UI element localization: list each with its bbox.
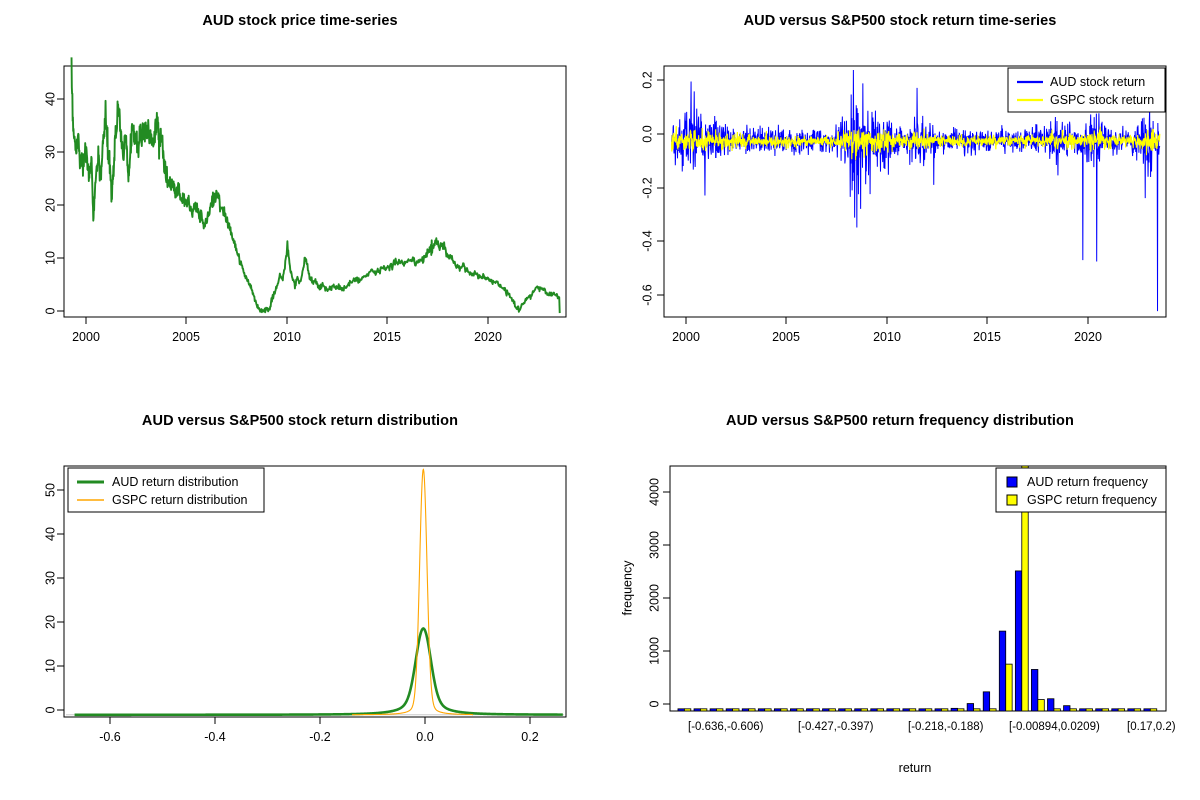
histogram-bar-gspc — [990, 709, 996, 711]
y-tick-label: 20 — [43, 198, 57, 212]
histogram-bar-gspc — [1150, 709, 1156, 711]
histogram-bar-gspc — [765, 709, 771, 711]
plot-aud-gspc-return: -0.6 -0.4 -0.2 0.0 0.2 2000 2005 2010 20… — [600, 0, 1200, 400]
x-axis-title: return — [899, 761, 932, 775]
legend-aud-gspc-histogram[interactable]: AUD return frequency GSPC return frequen… — [996, 468, 1166, 512]
histogram-bar-aud — [694, 709, 700, 711]
x-tick-label: 2010 — [273, 330, 301, 344]
series-aud-price — [72, 57, 560, 313]
histogram-bar-aud — [839, 709, 845, 711]
legend-label-gspc: GSPC return frequency — [1027, 493, 1158, 507]
axes-aud-price: 0 10 20 30 40 2000 2005 2010 2015 2020 — [43, 66, 566, 344]
y-axis-ticks — [57, 490, 64, 710]
x-axis-ticks — [110, 717, 530, 724]
histogram-bar-gspc — [700, 709, 706, 711]
legend-swatch-gspc — [1007, 495, 1017, 505]
histogram-bar-gspc — [941, 709, 947, 711]
y-tick-label: 50 — [43, 483, 57, 497]
x-tick-label: -0.6 — [99, 730, 121, 744]
histogram-bar-gspc — [1054, 709, 1060, 711]
histogram-bar-gspc — [1118, 709, 1124, 711]
x-bin-label: [-0.427,-0.397) — [798, 721, 874, 733]
histogram-bar-gspc — [893, 709, 899, 711]
x-tick-label: -0.2 — [309, 730, 331, 744]
x-tick-label: 2015 — [373, 330, 401, 344]
x-tick-label: 2000 — [672, 330, 700, 344]
y-tick-label: 0 — [647, 700, 661, 707]
y-tick-label: 2000 — [647, 584, 661, 612]
histogram-bar-gspc — [829, 709, 835, 711]
y-axis-title: frequency — [620, 560, 634, 616]
histogram-bar-aud — [903, 709, 909, 711]
plot-aud-gspc-density: 0 10 20 30 40 50 -0.6 -0.4 -0.2 0.0 0.2 — [0, 400, 600, 800]
histogram-bar-aud — [1096, 709, 1102, 711]
y-tick-label: 10 — [43, 659, 57, 673]
histogram-bar-aud — [726, 709, 732, 711]
panel-aud-gspc-histogram: AUD versus S&P500 return frequency distr… — [600, 400, 1200, 800]
y-axis-ticks — [57, 99, 64, 311]
histogram-bar-gspc — [813, 709, 819, 711]
y-tick-label: 0.0 — [640, 125, 654, 142]
histogram-bar-aud — [678, 709, 684, 711]
y-tick-label: 1000 — [647, 637, 661, 665]
histogram-bar-aud — [1080, 709, 1086, 711]
histogram-bar-gspc — [749, 709, 755, 711]
histogram-bar-aud — [823, 709, 829, 711]
histogram-bar-aud — [774, 709, 780, 711]
histogram-bar-aud — [1128, 709, 1134, 711]
x-bin-label: [0.17,0.2) — [1127, 721, 1176, 733]
y-tick-label: 0 — [43, 706, 57, 713]
y-tick-label: 3000 — [647, 531, 661, 559]
histogram-bar-aud — [1144, 709, 1150, 711]
histogram-bar-gspc — [733, 709, 739, 711]
histogram-bar-gspc — [861, 709, 867, 711]
legend-aud-gspc-density[interactable]: AUD return distribution GSPC return dist… — [68, 468, 264, 512]
y-tick-label: -0.4 — [640, 230, 654, 252]
histogram-bar-gspc — [1070, 709, 1076, 711]
histogram-bar-aud — [1112, 709, 1118, 711]
legend-label-gspc: GSPC stock return — [1050, 93, 1154, 107]
histogram-bar-gspc — [925, 709, 931, 711]
histogram-bar-gspc — [958, 709, 964, 711]
histogram-bar-aud — [887, 709, 893, 711]
histogram-bar-gspc — [1038, 700, 1044, 711]
x-tick-label: 2000 — [72, 330, 100, 344]
histogram-bar-aud — [871, 709, 877, 711]
histogram-bar-aud — [855, 709, 861, 711]
histogram-bar-aud — [758, 709, 764, 711]
histogram-bar-aud — [742, 709, 748, 711]
histogram-bar-aud — [1048, 699, 1054, 711]
x-tick-label: 0.2 — [521, 730, 538, 744]
panel-aud-gspc-density: AUD versus S&P500 stock return distribut… — [0, 400, 600, 800]
y-tick-label: 30 — [43, 145, 57, 159]
y-tick-label: -0.2 — [640, 177, 654, 199]
histogram-bar-aud — [983, 692, 989, 711]
legend-label-gspc: GSPC return distribution — [112, 493, 248, 507]
histogram-bar-gspc — [1134, 709, 1140, 711]
histogram-bar-aud — [919, 709, 925, 711]
y-tick-label: 10 — [43, 251, 57, 265]
legend-label-aud: AUD stock return — [1050, 75, 1145, 89]
y-tick-label: 30 — [43, 571, 57, 585]
histogram-bar-aud — [1031, 669, 1037, 711]
histogram-bar-aud — [807, 709, 813, 711]
histogram-bar-aud — [935, 709, 941, 711]
histogram-bar-aud — [710, 709, 716, 711]
histogram-bar-aud — [1015, 571, 1021, 711]
x-tick-label: 2005 — [772, 330, 800, 344]
histogram-bar-gspc — [781, 709, 787, 711]
panel-aud-gspc-return: AUD versus S&P500 stock return time-seri… — [600, 0, 1200, 400]
x-tick-label: 2020 — [1074, 330, 1102, 344]
figure-canvas: AUD stock price time-series 0 10 20 30 4… — [0, 0, 1200, 800]
x-tick-label: 0.0 — [416, 730, 433, 744]
x-tick-label: 2015 — [973, 330, 1001, 344]
x-axis-ticks — [86, 317, 488, 324]
y-tick-label: 4000 — [647, 478, 661, 506]
histogram-bar-aud — [790, 709, 796, 711]
x-axis-ticks — [686, 317, 1088, 324]
y-axis-ticks — [657, 80, 664, 295]
x-tick-label: 2005 — [172, 330, 200, 344]
histogram-bar-aud — [951, 708, 957, 711]
histogram-bar-gspc — [717, 709, 723, 711]
y-tick-label: 0.2 — [640, 71, 654, 88]
legend-label-aud: AUD return distribution — [112, 475, 238, 489]
plot-aud-gspc-histogram: 0 1000 2000 3000 4000 frequency [-0.636,… — [600, 400, 1200, 800]
histogram-bar-gspc — [909, 709, 915, 711]
y-tick-label: 0 — [43, 307, 57, 314]
y-axis-ticks — [663, 492, 670, 704]
legend-aud-gspc-return[interactable]: AUD stock return GSPC stock return — [1008, 68, 1165, 112]
histogram-bar-aud — [1064, 706, 1070, 711]
histogram-bar-aud — [999, 631, 1005, 711]
histogram-bar-gspc — [1006, 664, 1012, 711]
histogram-bar-aud — [967, 704, 973, 711]
y-tick-label: 20 — [43, 615, 57, 629]
x-tick-label: 2020 — [474, 330, 502, 344]
histogram-bar-gspc — [877, 709, 883, 711]
histogram-bar-gspc — [1102, 709, 1108, 711]
x-bin-label: [-0.636,-0.606) — [688, 721, 764, 733]
legend-label-aud: AUD return frequency — [1027, 475, 1149, 489]
x-bin-label: [-0.218,-0.188) — [908, 721, 984, 733]
histogram-bar-gspc — [845, 709, 851, 711]
histogram-bar-gspc — [797, 709, 803, 711]
x-tick-label: 2010 — [873, 330, 901, 344]
x-tick-label: -0.4 — [204, 730, 226, 744]
legend-swatch-aud — [1007, 477, 1017, 487]
y-tick-label: 40 — [43, 527, 57, 541]
panel-aud-price: AUD stock price time-series 0 10 20 30 4… — [0, 0, 600, 400]
histogram-bar-gspc — [974, 709, 980, 711]
histogram-bar-gspc — [684, 709, 690, 711]
histogram-bar-gspc — [1086, 709, 1092, 711]
x-bin-label: [-0.00894,0.0209) — [1009, 721, 1100, 733]
y-tick-label: -0.6 — [640, 284, 654, 306]
plot-aud-price: 0 10 20 30 40 2000 2005 2010 2015 2020 — [0, 0, 600, 400]
y-tick-label: 40 — [43, 92, 57, 106]
